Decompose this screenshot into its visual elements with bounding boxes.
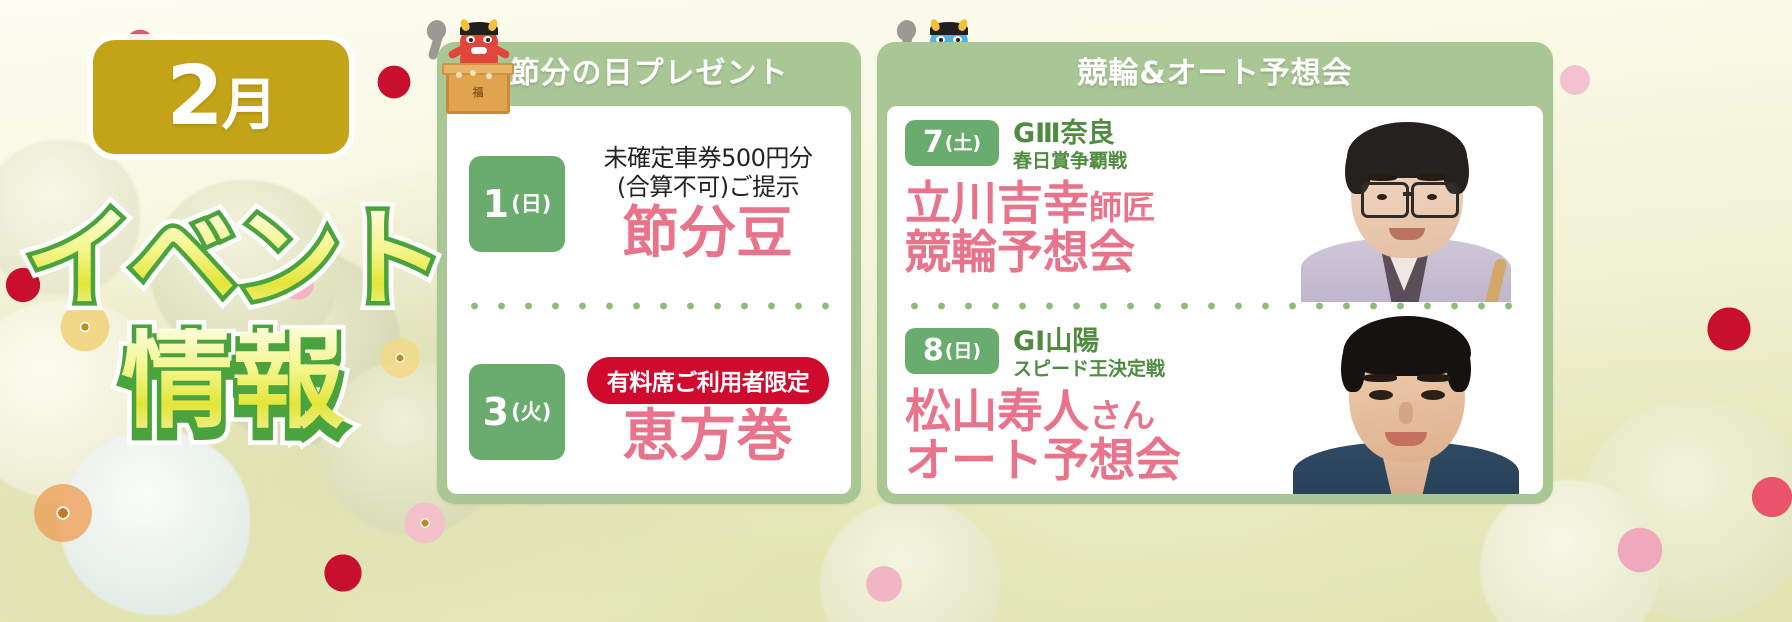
present-gift-name: 恵方巻 (571, 408, 845, 467)
event-name: 競輪予想会 (905, 228, 1543, 277)
event-banner: 2月 イベント イベント イベント 情報 情報 情報 節分の日プレゼント 1 (… (0, 0, 1792, 622)
present-row: 1 (日) 未確定車券500円分 (合算不可)ご提示 節分豆 (447, 120, 851, 288)
yosou-card-title: 競輪&オート予想会 (877, 42, 1553, 98)
title-line2: 情報 (18, 328, 448, 431)
event-name: オート予想会 (905, 436, 1543, 485)
date-number: 1 (483, 185, 509, 223)
status-badge: 有料席ご利用者限定 (587, 357, 830, 404)
present-text: 未確定車券500円分 (合算不可)ご提示 節分豆 (565, 144, 851, 263)
race-date-chip: 7 (土) (905, 120, 999, 166)
month-badge-text: 2月 (166, 56, 275, 138)
present-gift-name: 節分豆 (571, 205, 845, 264)
date-number: 3 (483, 393, 509, 431)
yosou-info: 8 (日) GⅠ山陽 スピード王決定戦 松山寿人さん オート予想会 (905, 328, 1543, 485)
yosou-row: 7 (土) GⅢ奈良 春日賞争覇戦 立川吉幸師匠 競輪予想会 (887, 106, 1543, 302)
yosou-row: 8 (日) GⅠ山陽 スピード王決定戦 松山寿人さん オート予想会 (887, 314, 1543, 494)
month-unit: 月 (222, 73, 276, 138)
red-oni-icon: 福 (440, 22, 518, 114)
page-title: イベント イベント イベント 情報 情報 情報 (18, 210, 448, 448)
month-badge: 2月 (93, 40, 349, 154)
race-date-chip: 8 (日) (905, 328, 999, 374)
divider (461, 302, 837, 310)
race-date-number: 7 (923, 128, 944, 158)
race-date-weekday: (日) (945, 342, 981, 361)
guest-name-line: 松山寿人さん (905, 387, 1543, 436)
guest-name-suffix: さん (1089, 396, 1155, 435)
date-weekday: (日) (511, 194, 551, 215)
setsubun-card-body: 1 (日) 未確定車券500円分 (合算不可)ご提示 節分豆 3 (火) 有料席… (447, 106, 851, 494)
date-chip: 1 (日) (469, 156, 565, 252)
race-name: 春日賞争覇戦 (1013, 151, 1127, 173)
yosou-card: 競輪&オート予想会 (877, 42, 1553, 504)
guest-name: 松山寿人 (905, 384, 1089, 438)
date-chip: 3 (火) (469, 364, 565, 460)
yosou-info: 7 (土) GⅢ奈良 春日賞争覇戦 立川吉幸師匠 競輪予想会 (905, 120, 1543, 277)
present-note-line2: (合算不可)ご提示 (571, 173, 845, 201)
guest-name: 立川吉幸 (905, 176, 1089, 230)
divider (901, 302, 1529, 310)
title-line1: イベント (18, 210, 448, 309)
month-number: 2 (166, 49, 221, 144)
fukumame-box: 福 (446, 70, 510, 114)
race-date-number: 8 (923, 336, 944, 366)
present-note-line1: 未確定車券500円分 (571, 144, 845, 172)
race-date-weekday: (土) (945, 134, 981, 153)
oni-box-label: 福 (446, 84, 510, 100)
date-weekday: (火) (511, 402, 551, 423)
present-row: 3 (火) 有料席ご利用者限定 恵方巻 (447, 328, 851, 494)
guest-name-line: 立川吉幸師匠 (905, 179, 1543, 228)
race-name: スピード王決定戦 (1013, 359, 1165, 381)
present-text: 有料席ご利用者限定 恵方巻 (565, 357, 851, 467)
race-grade: GⅢ奈良 (1013, 120, 1127, 148)
guest-name-suffix: 師匠 (1089, 188, 1155, 227)
race-grade: GⅠ山陽 (1013, 328, 1165, 356)
yosou-card-body: 7 (土) GⅢ奈良 春日賞争覇戦 立川吉幸師匠 競輪予想会 (887, 106, 1543, 494)
